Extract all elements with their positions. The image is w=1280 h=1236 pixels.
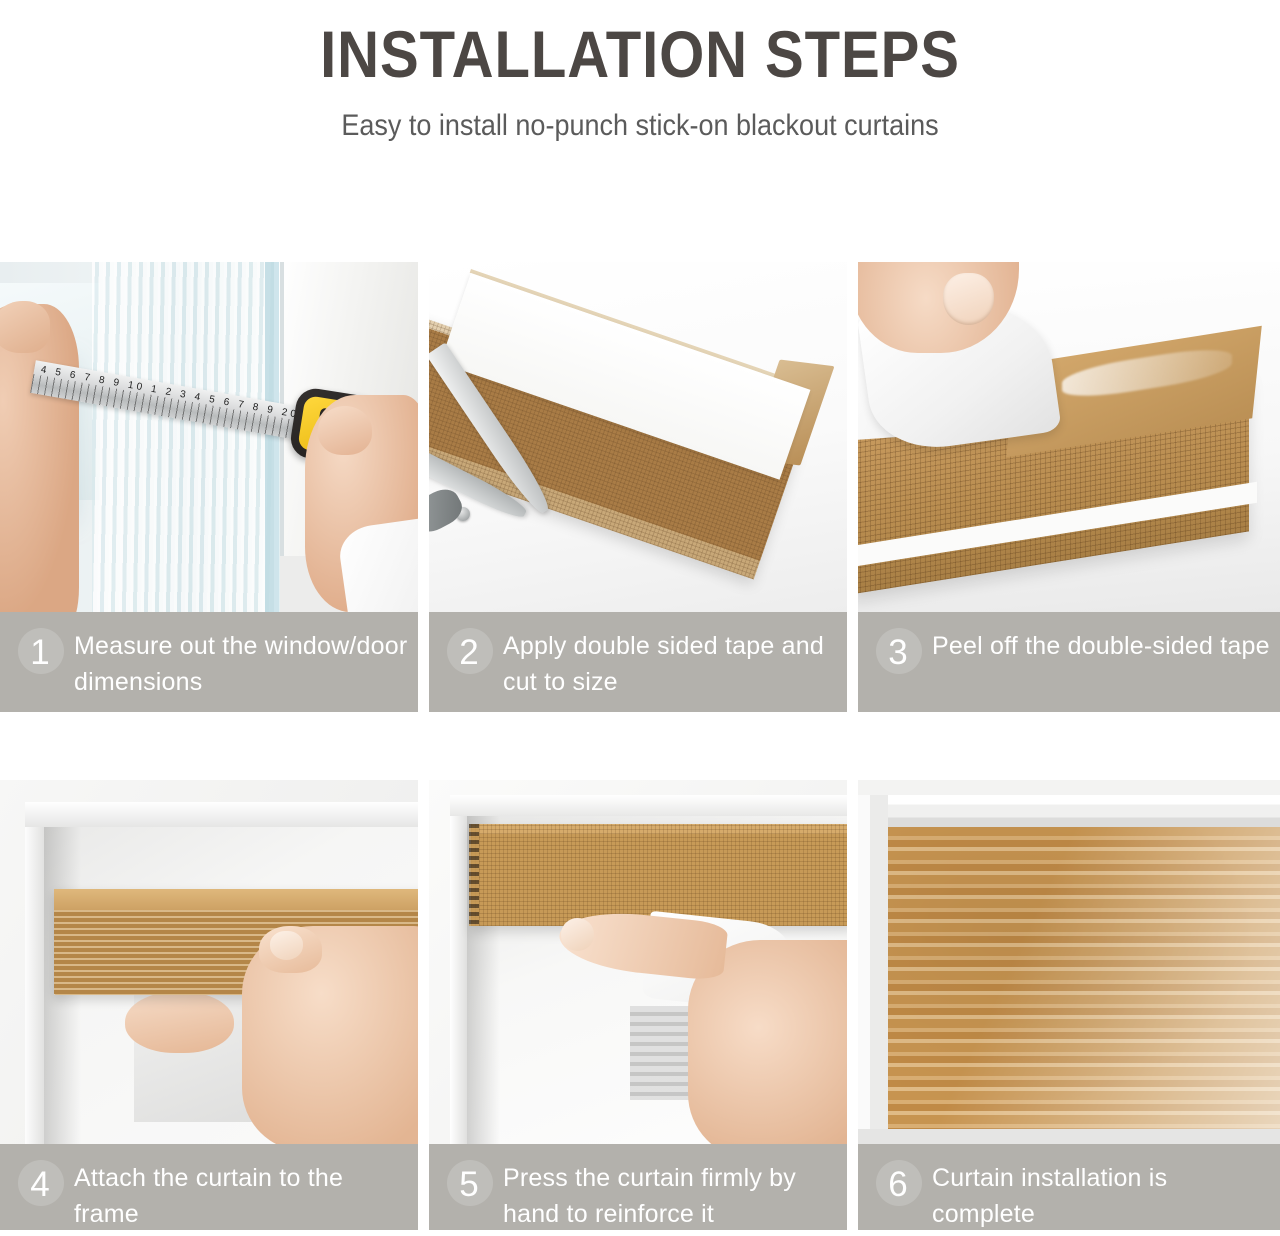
frame-jamb-vertical [450,795,467,1144]
window-casing-left [858,795,888,1144]
step-photo-6 [858,780,1280,1144]
step-photo-2 [429,262,847,612]
step-number-2: 2 [459,635,478,670]
page-header: INSTALLATION STEPS Easy to install no-pu… [0,0,1280,146]
step-caption-text-2: Apply double sided tape and cut to size [503,628,837,700]
step-caption-4: 4 Attach the curtain to the frame [0,1144,418,1230]
blind-torn-edge [469,824,479,926]
frame-jamb-vertical [25,802,44,1144]
step-card-5: 5 Press the curtain firmly by hand to re… [429,780,847,1230]
step-caption-6: 6 Curtain installation is complete [858,1144,1280,1230]
step-caption-text-5: Press the curtain firmly by hand to rein… [503,1160,837,1230]
step-number-badge-6: 6 [872,1160,924,1208]
steps-grid: 4 5 6 7 8 9 10 1 2 3 4 5 6 7 8 9 20 1 2 … [0,262,1280,1230]
step-card-1: 4 5 6 7 8 9 10 1 2 3 4 5 6 7 8 9 20 1 2 … [0,262,418,712]
step-number-5: 5 [459,1167,478,1202]
frame-jamb-horizontal [25,802,418,827]
step-number-3: 3 [888,635,907,670]
step-caption-text-3: Peel off the double-sided tape [932,628,1270,664]
step-caption-3: 3 Peel off the double-sided tape [858,612,1280,712]
blind-mesh-texture [471,824,847,926]
window-casing-top [858,795,1280,828]
step-card-4: 4 Attach the curtain to the frame [0,780,418,1230]
right-index-finger [318,406,372,455]
step-number-badge-1: 1 [14,628,66,676]
step-number-badge-3: 3 [872,628,924,676]
step-caption-2: 2 Apply double sided tape and cut to siz… [429,612,847,712]
step-card-3: 3 Peel off the double-sided tape [858,262,1280,712]
fingernail [270,931,303,960]
frame-jamb-horizontal [450,795,847,817]
step-caption-text-1: Measure out the window/door dimensions [74,628,408,700]
step-photo-4 [0,780,418,1144]
step-number-badge-2: 2 [443,628,495,676]
step-number-badge-4: 4 [14,1160,66,1208]
step-number-1: 1 [30,635,49,670]
step-caption-1: 1 Measure out the window/door dimensions [0,612,418,712]
page-title: INSTALLATION STEPS [77,18,1203,90]
step-number-4: 4 [30,1167,49,1202]
step-photo-5 [429,780,847,1144]
thumbnail [943,273,994,326]
step-caption-text-4: Attach the curtain to the frame [74,1160,408,1230]
supporting-fingers [125,991,234,1053]
installed-blind [471,824,847,926]
step-card-2: 2 Apply double sided tape and cut to siz… [429,262,847,712]
fingernail [561,918,594,951]
step-number-badge-5: 5 [443,1160,495,1208]
step-photo-1: 4 5 6 7 8 9 10 1 2 3 4 5 6 7 8 9 20 1 2 … [0,262,418,612]
page-subtitle: Easy to install no-punch stick-on blacko… [64,106,1216,146]
left-thumb [0,301,50,354]
corner-shading [888,827,1280,1129]
finished-pleated-blind [888,827,1280,1129]
step-card-6: 6 Curtain installation is complete [858,780,1280,1230]
step-caption-5: 5 Press the curtain firmly by hand to re… [429,1144,847,1230]
window-casing-bottom [858,1129,1280,1144]
step-caption-text-6: Curtain installation is complete [932,1160,1272,1230]
window-mullion-secondary [274,262,279,612]
frosted-glass-pane [92,262,284,612]
blind-top-band [54,889,418,910]
step-number-6: 6 [888,1167,907,1202]
step-photo-3 [858,262,1280,612]
